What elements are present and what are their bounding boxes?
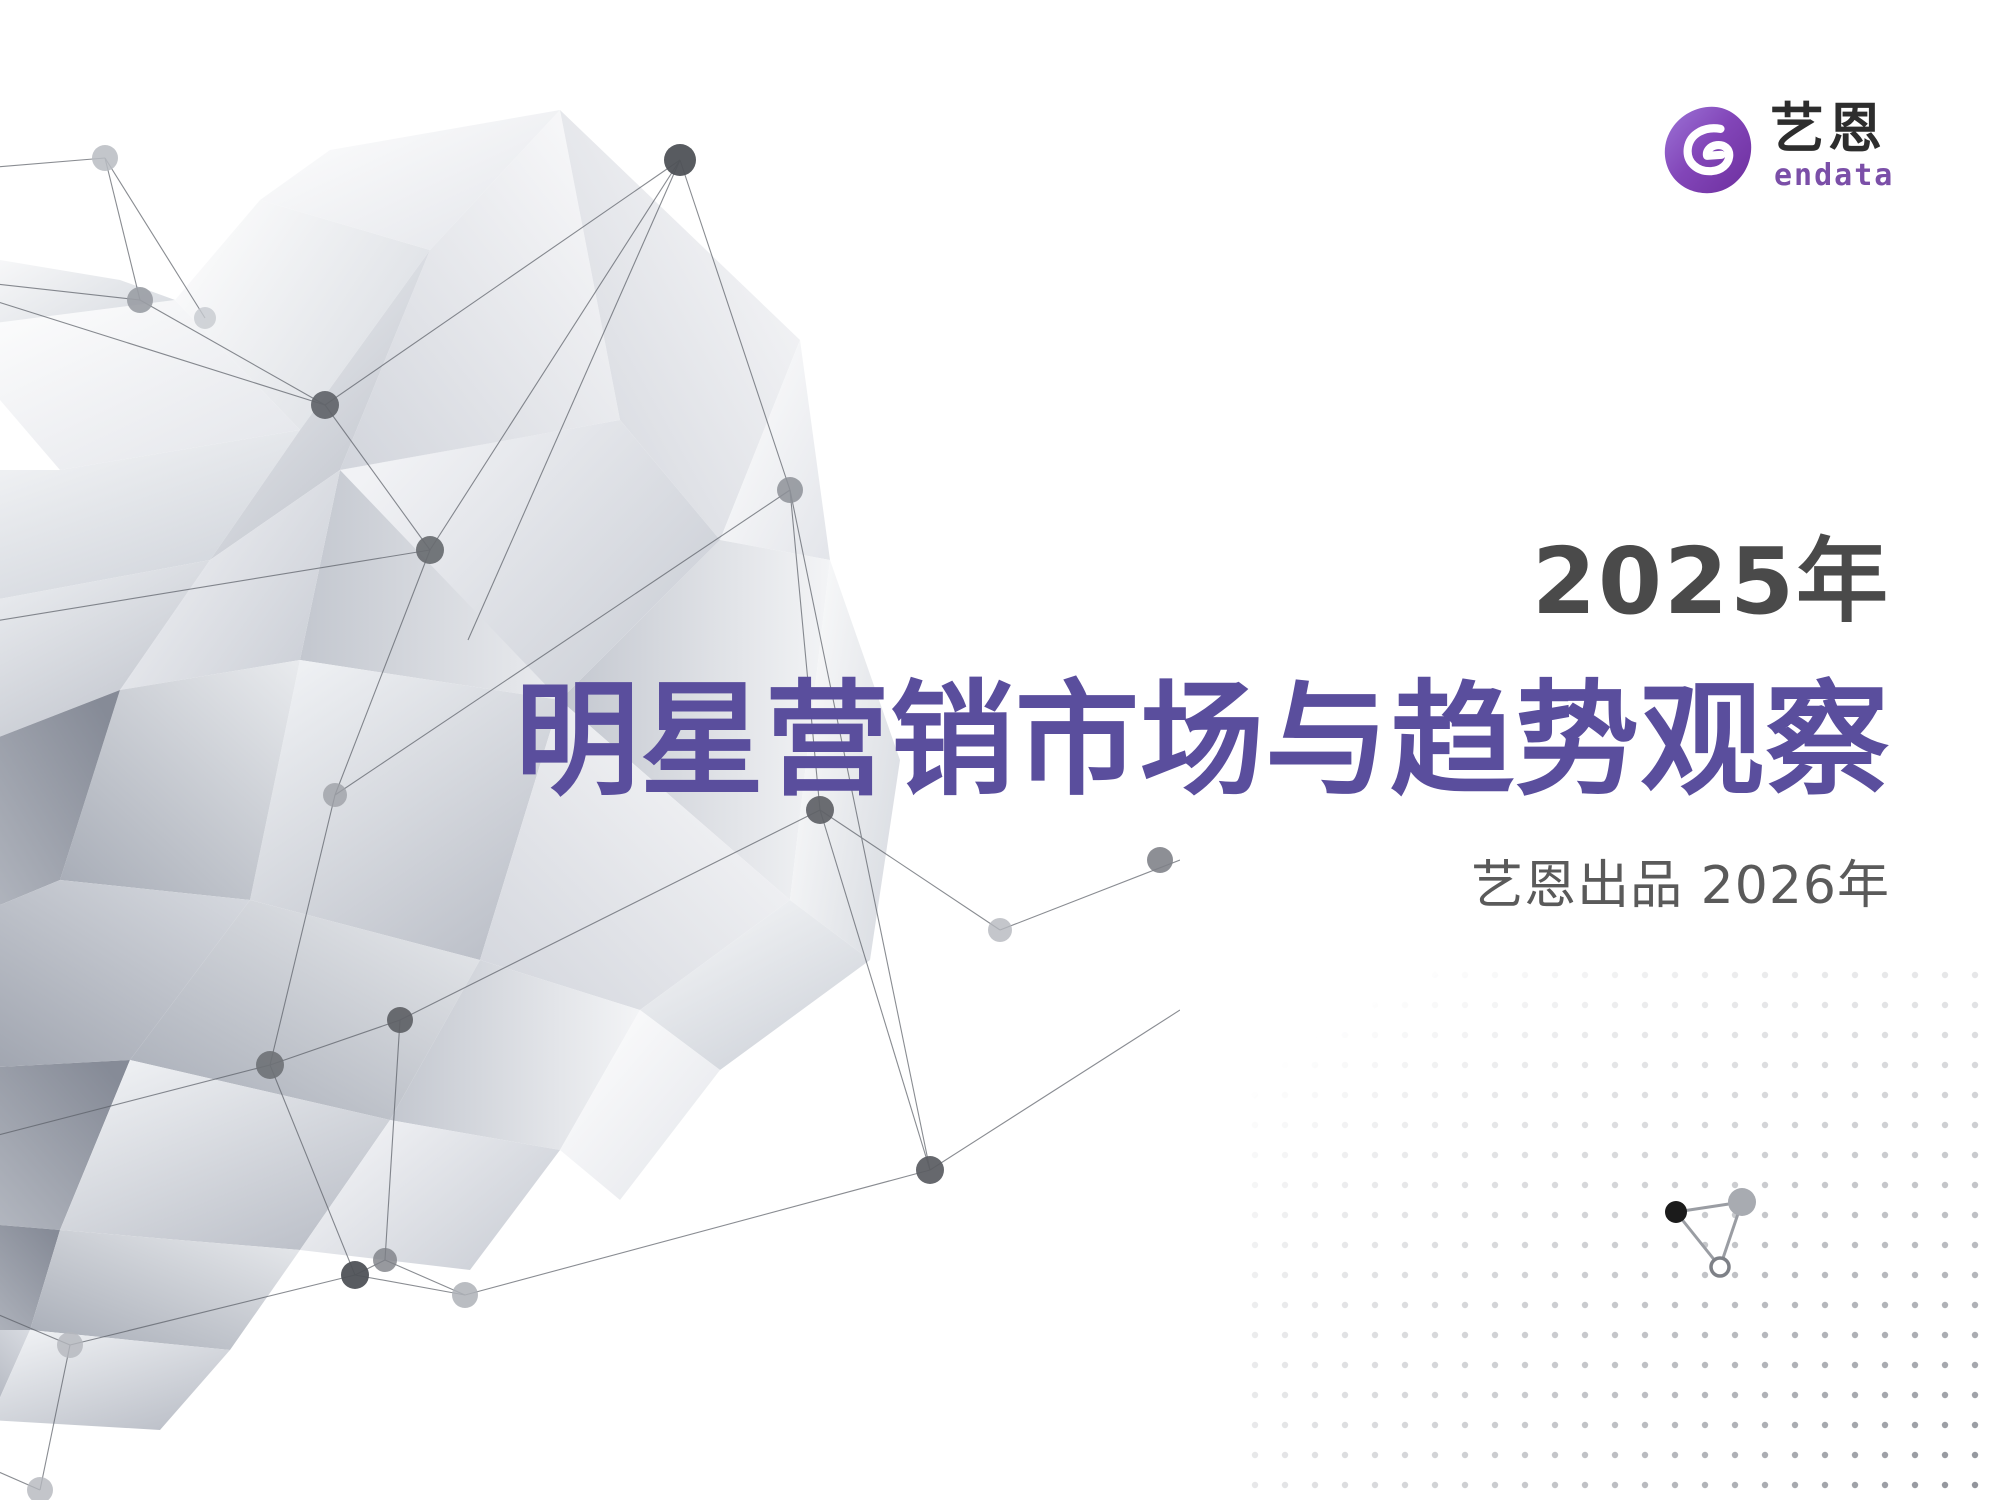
node-filled-gray bbox=[1728, 1188, 1756, 1216]
node-filled-black bbox=[1665, 1201, 1687, 1223]
slide-year: 2025年 bbox=[390, 530, 1890, 634]
page-title: 明星营销市场与趋势观察 bbox=[390, 672, 1890, 810]
logo-cn-text: 艺恩 bbox=[1770, 100, 1894, 158]
endata-logo[interactable]: 艺恩 endata bbox=[1660, 100, 1900, 210]
title-block: 2025年 明星营销市场与趋势观察 艺恩出品 2026年 bbox=[390, 530, 1890, 916]
triangle-node-motif bbox=[1630, 1185, 1800, 1335]
logo-en-text: endata bbox=[1774, 160, 1894, 192]
halftone-dot-grid bbox=[1240, 960, 2000, 1500]
title-slide: 艺恩 endata 2025年 明星营销市场与趋势观察 艺恩出品 2026年 bbox=[0, 0, 2000, 1500]
endata-e-mark-icon bbox=[1660, 102, 1756, 198]
node-outline-white bbox=[1711, 1258, 1729, 1276]
slide-subtitle: 艺恩出品 2026年 bbox=[390, 856, 1890, 916]
